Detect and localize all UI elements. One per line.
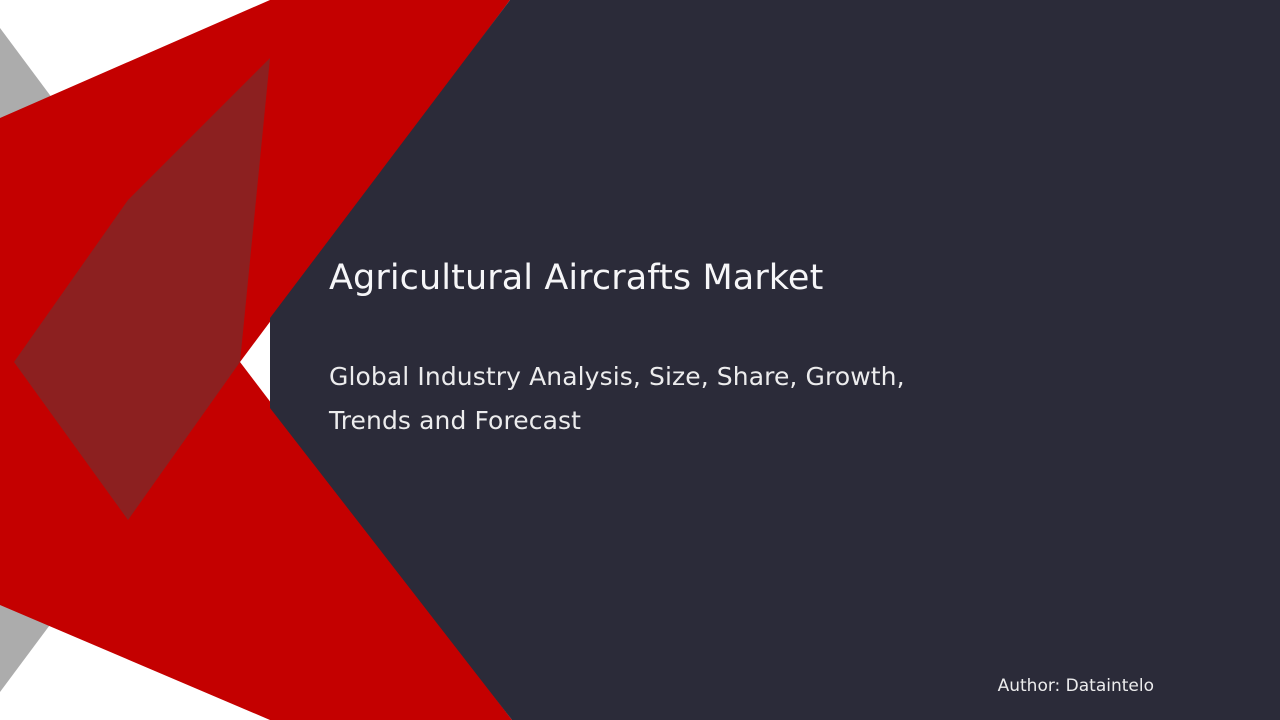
slide-subtitle: Global Industry Analysis, Size, Share, G…: [329, 355, 969, 443]
page-title: Agricultural Aircrafts Market: [329, 258, 989, 299]
title-slide: Agricultural Aircrafts Market Global Ind…: [0, 0, 1280, 720]
author-credit: Author: Dataintelo: [998, 675, 1154, 697]
slide-text-block: Agricultural Aircrafts Market Global Ind…: [329, 258, 989, 443]
